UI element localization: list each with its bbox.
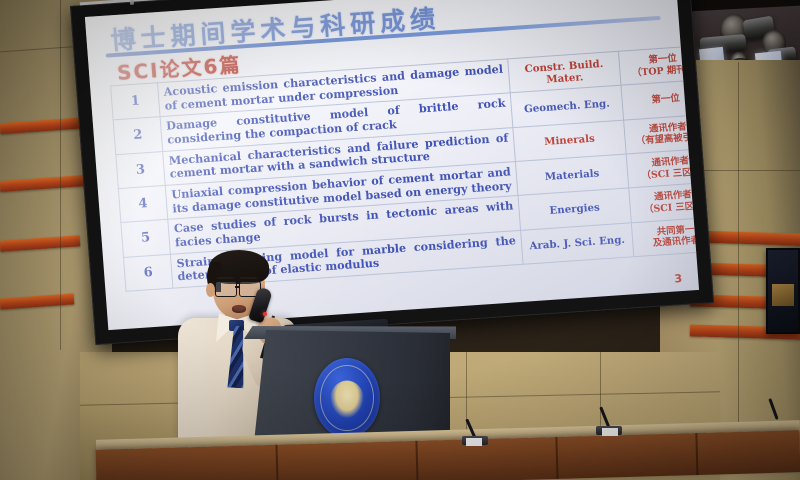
microphone-led-indicator: [263, 312, 267, 316]
row-number: 3: [116, 151, 165, 188]
slide-page-number: 3: [674, 272, 683, 285]
author-role: 第一位: [621, 80, 699, 120]
emblem-flame-icon: [330, 381, 364, 419]
speaker-ear: [206, 283, 215, 297]
lecture-hall-scene: 博士期间学术与科研成绩 SCI论文6篇 1 Acoustic emission …: [0, 0, 800, 480]
wall-panel-seam: [738, 62, 739, 442]
author-role: 通讯作者（SCI 三区）: [629, 182, 699, 222]
row-number: 5: [121, 220, 170, 257]
desk-panel-seam: [275, 445, 278, 480]
row-number: 4: [118, 185, 167, 222]
projected-slide: 博士期间学术与科研成绩 SCI论文6篇 1 Acoustic emission …: [85, 0, 699, 330]
wall-panel-seam: [600, 352, 601, 432]
wall-panel-seam: [690, 170, 800, 171]
author-role: 通讯作者（有望高被引）: [624, 114, 699, 154]
row-number: 6: [123, 254, 172, 291]
author-role: 第一位（TOP 期刊）: [618, 45, 699, 85]
desk-panel-seam: [555, 437, 558, 479]
desk-panel-seam: [695, 433, 698, 475]
university-emblem: [314, 358, 380, 438]
publications-table: 1 Acoustic emission characteristics and …: [110, 45, 699, 292]
eyeglasses-bridge: [235, 286, 240, 288]
microphone-name-card: [602, 428, 618, 436]
wall-mounted-monitor: [766, 248, 800, 334]
eyeglasses-lens: [215, 281, 237, 297]
projection-screen-frame: 博士期间学术与科研成绩 SCI论文6篇 1 Acoustic emission …: [70, 0, 714, 345]
microphone-name-card: [466, 438, 482, 446]
author-role: 共同第一及通讯作者: [631, 216, 699, 256]
wall-panel-seam: [60, 0, 61, 350]
speaker-mouth: [232, 305, 246, 313]
journal-name: Arab. J. Sci. Eng.: [521, 222, 634, 264]
desk-panel-seam: [415, 441, 418, 480]
author-role: 通讯作者（SCI 三区）: [626, 148, 699, 188]
screen-clip: [129, 0, 134, 5]
row-number: 1: [111, 83, 160, 120]
row-number: 2: [113, 117, 162, 154]
